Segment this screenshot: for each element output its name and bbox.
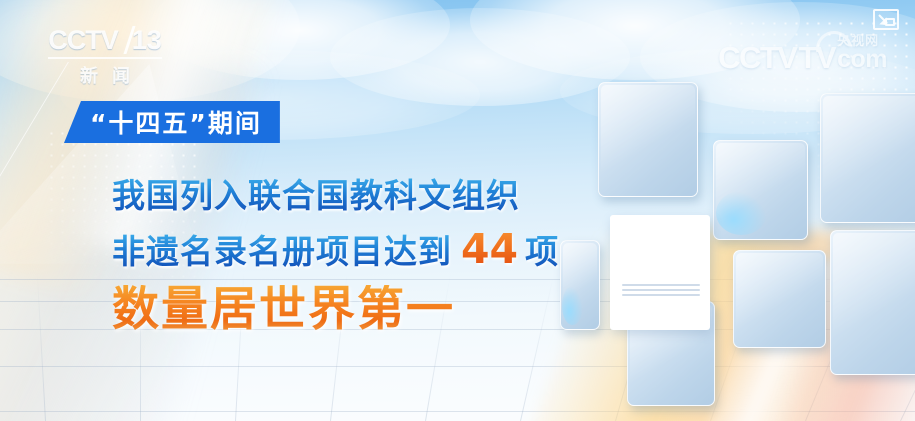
watermark-chinese-text: 央视网 [837, 34, 879, 48]
document-text-lines [622, 284, 700, 299]
floating-card [820, 93, 915, 223]
headline-line-2-suffix: 项 [525, 234, 559, 270]
cloud-decoration [470, 0, 800, 80]
watermark-cctv-text: CCTV [718, 44, 796, 72]
floating-card [830, 230, 915, 375]
floor-grid-line [37, 271, 46, 421]
logo-slash-icon [114, 26, 135, 54]
channel-number: 13 [132, 27, 162, 54]
picture-in-picture-icon[interactable] [873, 9, 899, 30]
logo-divider [48, 57, 162, 59]
cctv-com-watermark: CCTV TV 央视网 com [718, 34, 887, 72]
headline-line-1: 我国列入联合国教科文组织 [112, 178, 632, 214]
floating-card [713, 140, 808, 240]
watermark-arc-icon [809, 24, 859, 74]
broadcast-graphic-stage: CCTV 13 新闻 CCTV TV 央视网 com “十四五”期间 我国列入联… [0, 0, 915, 421]
headline-line-2: 非遗名录名册项目达到 44 项 [112, 227, 632, 271]
floating-card [733, 250, 826, 348]
watermark-stack: 央视网 com [837, 34, 887, 72]
headline-highlight-number: 44 [461, 227, 518, 271]
watermark-com-text: com [837, 48, 887, 72]
headline-block: 我国列入联合国教科文组织 非遗名录名册项目达到 44 项 数量居世界第一 [112, 178, 632, 336]
headline-line-3: 数量居世界第一 [112, 285, 632, 336]
channel-logo-text: CCTV [48, 27, 118, 54]
period-banner-label: “十四五”期间 [90, 104, 262, 140]
pip-inner-frame [885, 18, 895, 26]
cloud-decoration [330, 8, 630, 106]
watermark-tv-text: TV [798, 44, 835, 72]
watermark-row: CCTV TV 央视网 com [718, 34, 887, 72]
channel-logo-row: CCTV 13 [44, 26, 166, 54]
headline-line-2-prefix: 非遗名录名册项目达到 [112, 234, 452, 270]
period-banner: “十四五”期间 [64, 101, 280, 143]
